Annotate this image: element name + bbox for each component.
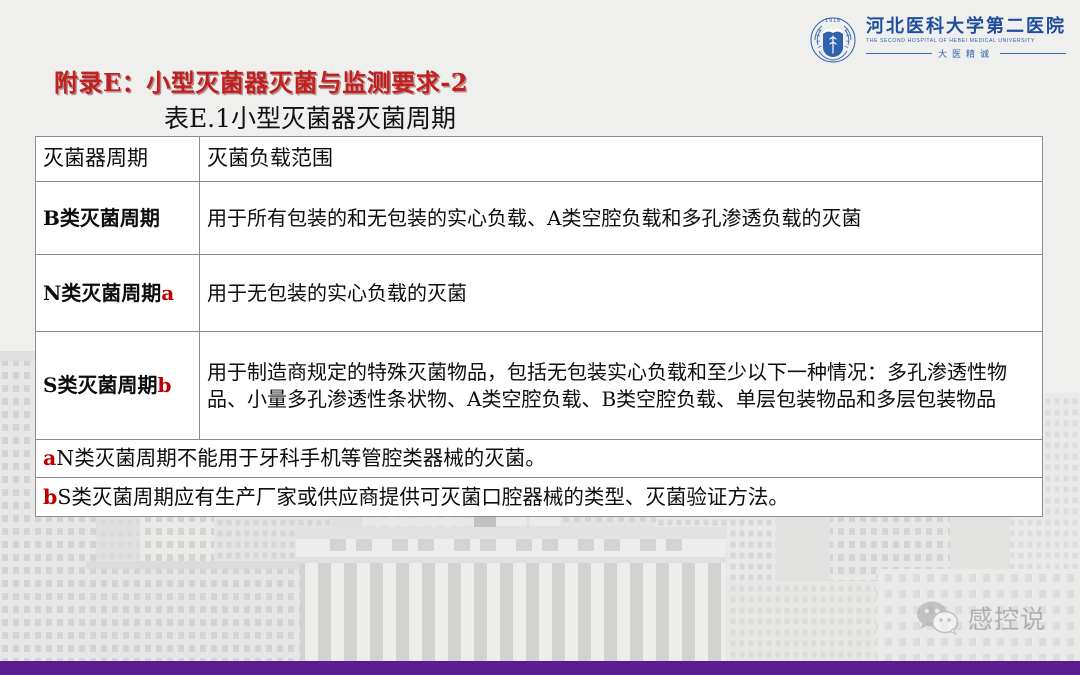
logo-motto-rule-right bbox=[1000, 53, 1066, 54]
footnote-marker-b: b bbox=[157, 373, 171, 397]
table-footnote-row: bS类灭菌周期应有生产厂家或供应商提供可灭菌口腔器械的类型、灭菌验证方法。 bbox=[36, 478, 1043, 517]
row-cycle-b: B类灭菌周期 bbox=[36, 182, 200, 255]
slide-title: 附录E：小型灭菌器灭菌与监测要求-2 bbox=[54, 63, 468, 98]
footnote-a-text: N类灭菌周期不能用于牙科手机等管腔类器械的灭菌。 bbox=[56, 446, 545, 470]
footnote-b-text: S类灭菌周期应有生产厂家或供应商提供可灭菌口腔器械的类型、灭菌验证方法。 bbox=[57, 485, 789, 509]
row-cycle-n-label: N类灭菌周期 bbox=[43, 281, 161, 305]
wechat-watermark: 感控说 bbox=[915, 600, 1046, 636]
row-scope-s: 用于制造商规定的特殊灭菌物品，包括无包装实心负载和至少以下一种情况：多孔渗透性物… bbox=[200, 332, 1043, 440]
header-cycle: 灭菌器周期 bbox=[36, 137, 200, 182]
row-cycle-n: N类灭菌周期a bbox=[36, 255, 200, 332]
footer-accent-bar bbox=[0, 661, 1080, 675]
logo-motto: 大医精诚 bbox=[938, 47, 994, 60]
row-scope-b: 用于所有包装的和无包装的实心负载、A类空腔负载和多孔渗透负载的灭菌 bbox=[200, 182, 1043, 255]
row-cycle-s: S类灭菌周期b bbox=[36, 332, 200, 440]
logo-motto-rule-left bbox=[866, 53, 932, 54]
logo-hospital-name-cn: 河北医科大学第二医院 bbox=[866, 18, 1066, 37]
footnote-b: bS类灭菌周期应有生产厂家或供应商提供可灭菌口腔器械的类型、灭菌验证方法。 bbox=[36, 478, 1043, 517]
footnote-marker-a: a bbox=[161, 281, 174, 305]
hospital-logo: 1918 河北医科大学第二医院 THE SECOND HOSPITAL OF H… bbox=[808, 14, 1066, 64]
sterilization-cycle-table: 灭菌器周期 灭菌负载范围 B类灭菌周期 用于所有包装的和无包装的实心负载、A类空… bbox=[35, 136, 1043, 517]
table-caption: 表E.1小型灭菌器灭菌周期 bbox=[0, 99, 620, 135]
table-row: N类灭菌周期a 用于无包装的实心负载的灭菌 bbox=[36, 255, 1043, 332]
hospital-crest-icon: 1918 bbox=[808, 14, 858, 64]
header-scope: 灭菌负载范围 bbox=[200, 137, 1043, 182]
wechat-icon bbox=[915, 600, 961, 636]
table-footnote-row: aN类灭菌周期不能用于牙科手机等管腔类器械的灭菌。 bbox=[36, 440, 1043, 478]
footnote-a-marker: a bbox=[43, 446, 56, 470]
table-row: S类灭菌周期b 用于制造商规定的特殊灭菌物品，包括无包装实心负载和至少以下一种情… bbox=[36, 332, 1043, 440]
row-scope-n: 用于无包装的实心负载的灭菌 bbox=[200, 255, 1043, 332]
table-header-row: 灭菌器周期 灭菌负载范围 bbox=[36, 137, 1043, 182]
footnote-b-marker: b bbox=[43, 485, 57, 509]
row-cycle-s-label: S类灭菌周期 bbox=[43, 373, 157, 397]
logo-year: 1918 bbox=[825, 18, 841, 24]
table-row: B类灭菌周期 用于所有包装的和无包装的实心负载、A类空腔负载和多孔渗透负载的灭菌 bbox=[36, 182, 1043, 255]
row-cycle-b-label: B类灭菌周期 bbox=[43, 206, 160, 230]
wechat-watermark-label: 感控说 bbox=[968, 600, 1046, 636]
footnote-a: aN类灭菌周期不能用于牙科手机等管腔类器械的灭菌。 bbox=[36, 440, 1043, 478]
logo-hospital-name-en: THE SECOND HOSPITAL OF HEBEI MEDICAL UNI… bbox=[866, 38, 1066, 44]
logo-motto-row: 大医精诚 bbox=[866, 47, 1066, 60]
